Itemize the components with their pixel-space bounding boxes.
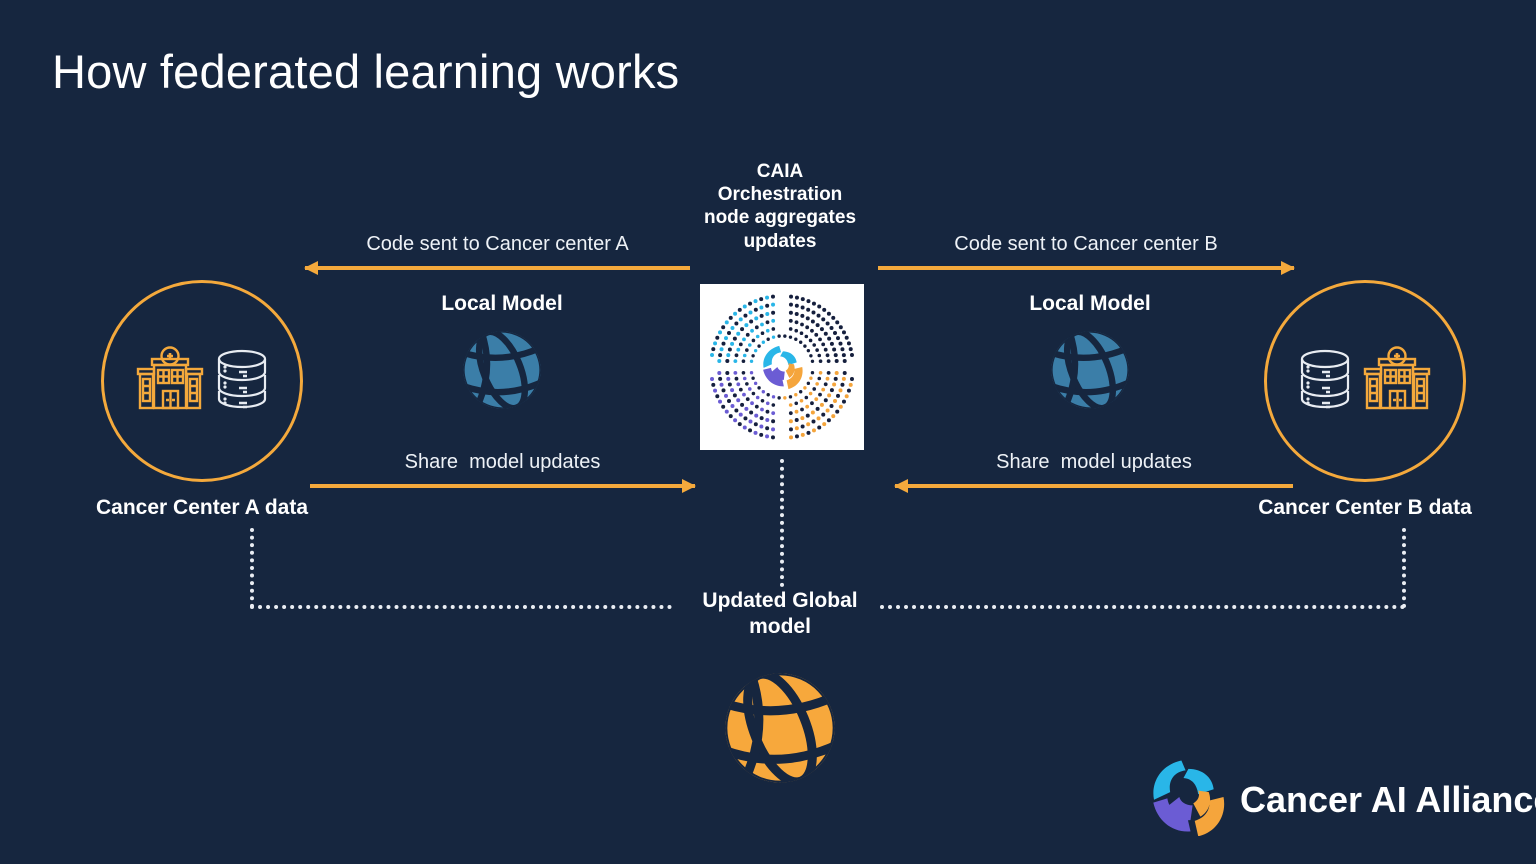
arrow-line (878, 266, 1294, 270)
cancer-ai-alliance-wordmark: Cancer AI Alliance (1240, 779, 1536, 821)
database-icon (1296, 348, 1354, 415)
cancer-ai-alliance-brand: Cancer AI Alliance (1148, 758, 1536, 841)
database-icon (213, 348, 271, 415)
globe-icon (995, 324, 1185, 421)
local-model-b: Local Model (995, 292, 1185, 421)
updated-global-model-label: Updated Global model (660, 588, 900, 641)
page-title: How federated learning works (52, 44, 679, 99)
local-model-a-label: Local Model (407, 292, 597, 316)
caia-caption-line-1: CAIA (672, 160, 888, 183)
caia-caption-line-2: Orchestration (672, 183, 888, 206)
dotted-connector-center-b-vertical (1402, 528, 1406, 608)
slide-canvas: How federated learning works CAIA Orches… (0, 0, 1536, 864)
arrow-code-sent-to-center-a-label: Code sent to Cancer center A (305, 233, 690, 256)
cancer-center-b-circle (1264, 280, 1466, 482)
local-model-b-label: Local Model (995, 292, 1185, 316)
arrow-share-model-updates-from-a-label: Share model updates (310, 451, 695, 474)
arrow-head-left-icon (894, 479, 908, 493)
arrow-head-left-icon (304, 261, 318, 275)
cancer-center-b-label: Cancer Center B data (1215, 496, 1515, 520)
dotted-connector-center-b-horizontal (880, 605, 1405, 609)
cancer-center-a-circle (101, 280, 303, 482)
dotted-connector-center-a-vertical (250, 528, 254, 608)
hospital-icon (133, 346, 207, 417)
arrow-line (305, 266, 690, 270)
caia-orchestration-caption: CAIA Orchestration node aggregates updat… (672, 160, 888, 253)
caia-orchestration-node-logo (700, 284, 864, 450)
cancer-center-a-node: Cancer Center A data (52, 280, 352, 520)
updated-global-model-label-line-1: Updated Global (660, 588, 900, 614)
updated-global-model-label-line-2: model (660, 614, 900, 640)
arrow-head-right-icon (682, 479, 696, 493)
cancer-center-a-label: Cancer Center A data (52, 496, 352, 520)
cancer-ai-alliance-hands-logo (1148, 758, 1226, 841)
cancer-center-b-node: Cancer Center B data (1215, 280, 1515, 520)
arrow-share-model-updates-from-a: Share model updates (310, 446, 695, 488)
arrow-line (310, 484, 695, 488)
caia-caption-line-4: updates (672, 230, 888, 253)
globe-icon (660, 663, 900, 798)
caia-caption-line-3: node aggregates (672, 206, 888, 229)
globe-icon (407, 324, 597, 421)
arrow-code-sent-to-center-a: Code sent to Cancer center A (305, 228, 690, 270)
hospital-icon (1360, 346, 1434, 417)
arrow-code-sent-to-center-b: Code sent to Cancer center B (878, 228, 1294, 270)
arrow-head-right-icon (1281, 261, 1295, 275)
dotted-connector-center-a-horizontal (250, 605, 672, 609)
arrow-code-sent-to-center-b-label: Code sent to Cancer center B (878, 233, 1294, 256)
dotted-connector-caia-vertical (780, 459, 784, 587)
local-model-a: Local Model (407, 292, 597, 421)
updated-global-model: Updated Global model (660, 588, 900, 798)
